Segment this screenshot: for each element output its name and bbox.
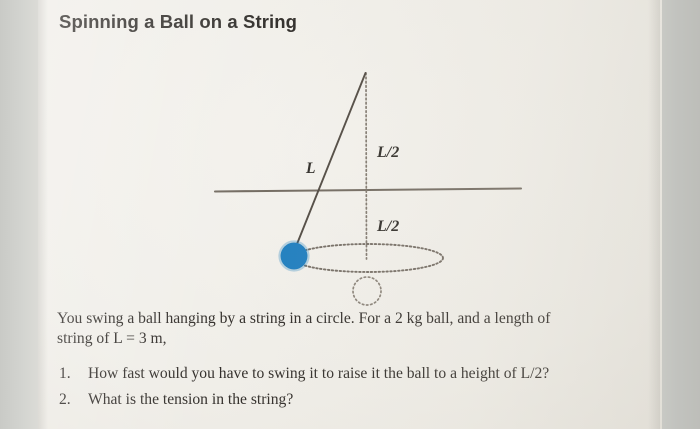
- orbit-path-ellipse: [293, 244, 443, 272]
- conical-pendulum-diagram: [0, 0, 700, 320]
- question-item: 1. How fast would you have to swing it t…: [57, 364, 657, 390]
- question-number: 2.: [59, 390, 85, 409]
- question-number: 1.: [59, 364, 85, 383]
- string-line: [293, 73, 366, 254]
- horizontal-reference-line: [215, 189, 521, 192]
- problem-statement-line-1: You swing a ball hanging by a string in …: [57, 309, 657, 329]
- question-item: 2. What is the tension in the string?: [57, 390, 657, 416]
- question-list: 1. How fast would you have to swing it t…: [57, 364, 657, 416]
- question-text: What is the tension in the string?: [88, 390, 293, 409]
- small-dotted-circle: [353, 277, 381, 305]
- problem-statement-line-2: string of L = 3 m,: [57, 329, 657, 349]
- label-height-above: L/2: [377, 144, 399, 162]
- ball: [281, 243, 308, 270]
- problem-statement: You swing a ball hanging by a string in …: [57, 309, 657, 348]
- label-height-below: L/2: [377, 218, 399, 236]
- label-string-length: L: [306, 160, 315, 178]
- worksheet-photo: Spinning a Ball on a String L L/2 L/2 Yo…: [0, 0, 700, 429]
- vertical-axis-dotted-line: [366, 73, 367, 259]
- question-text: How fast would you have to swing it to r…: [88, 364, 549, 383]
